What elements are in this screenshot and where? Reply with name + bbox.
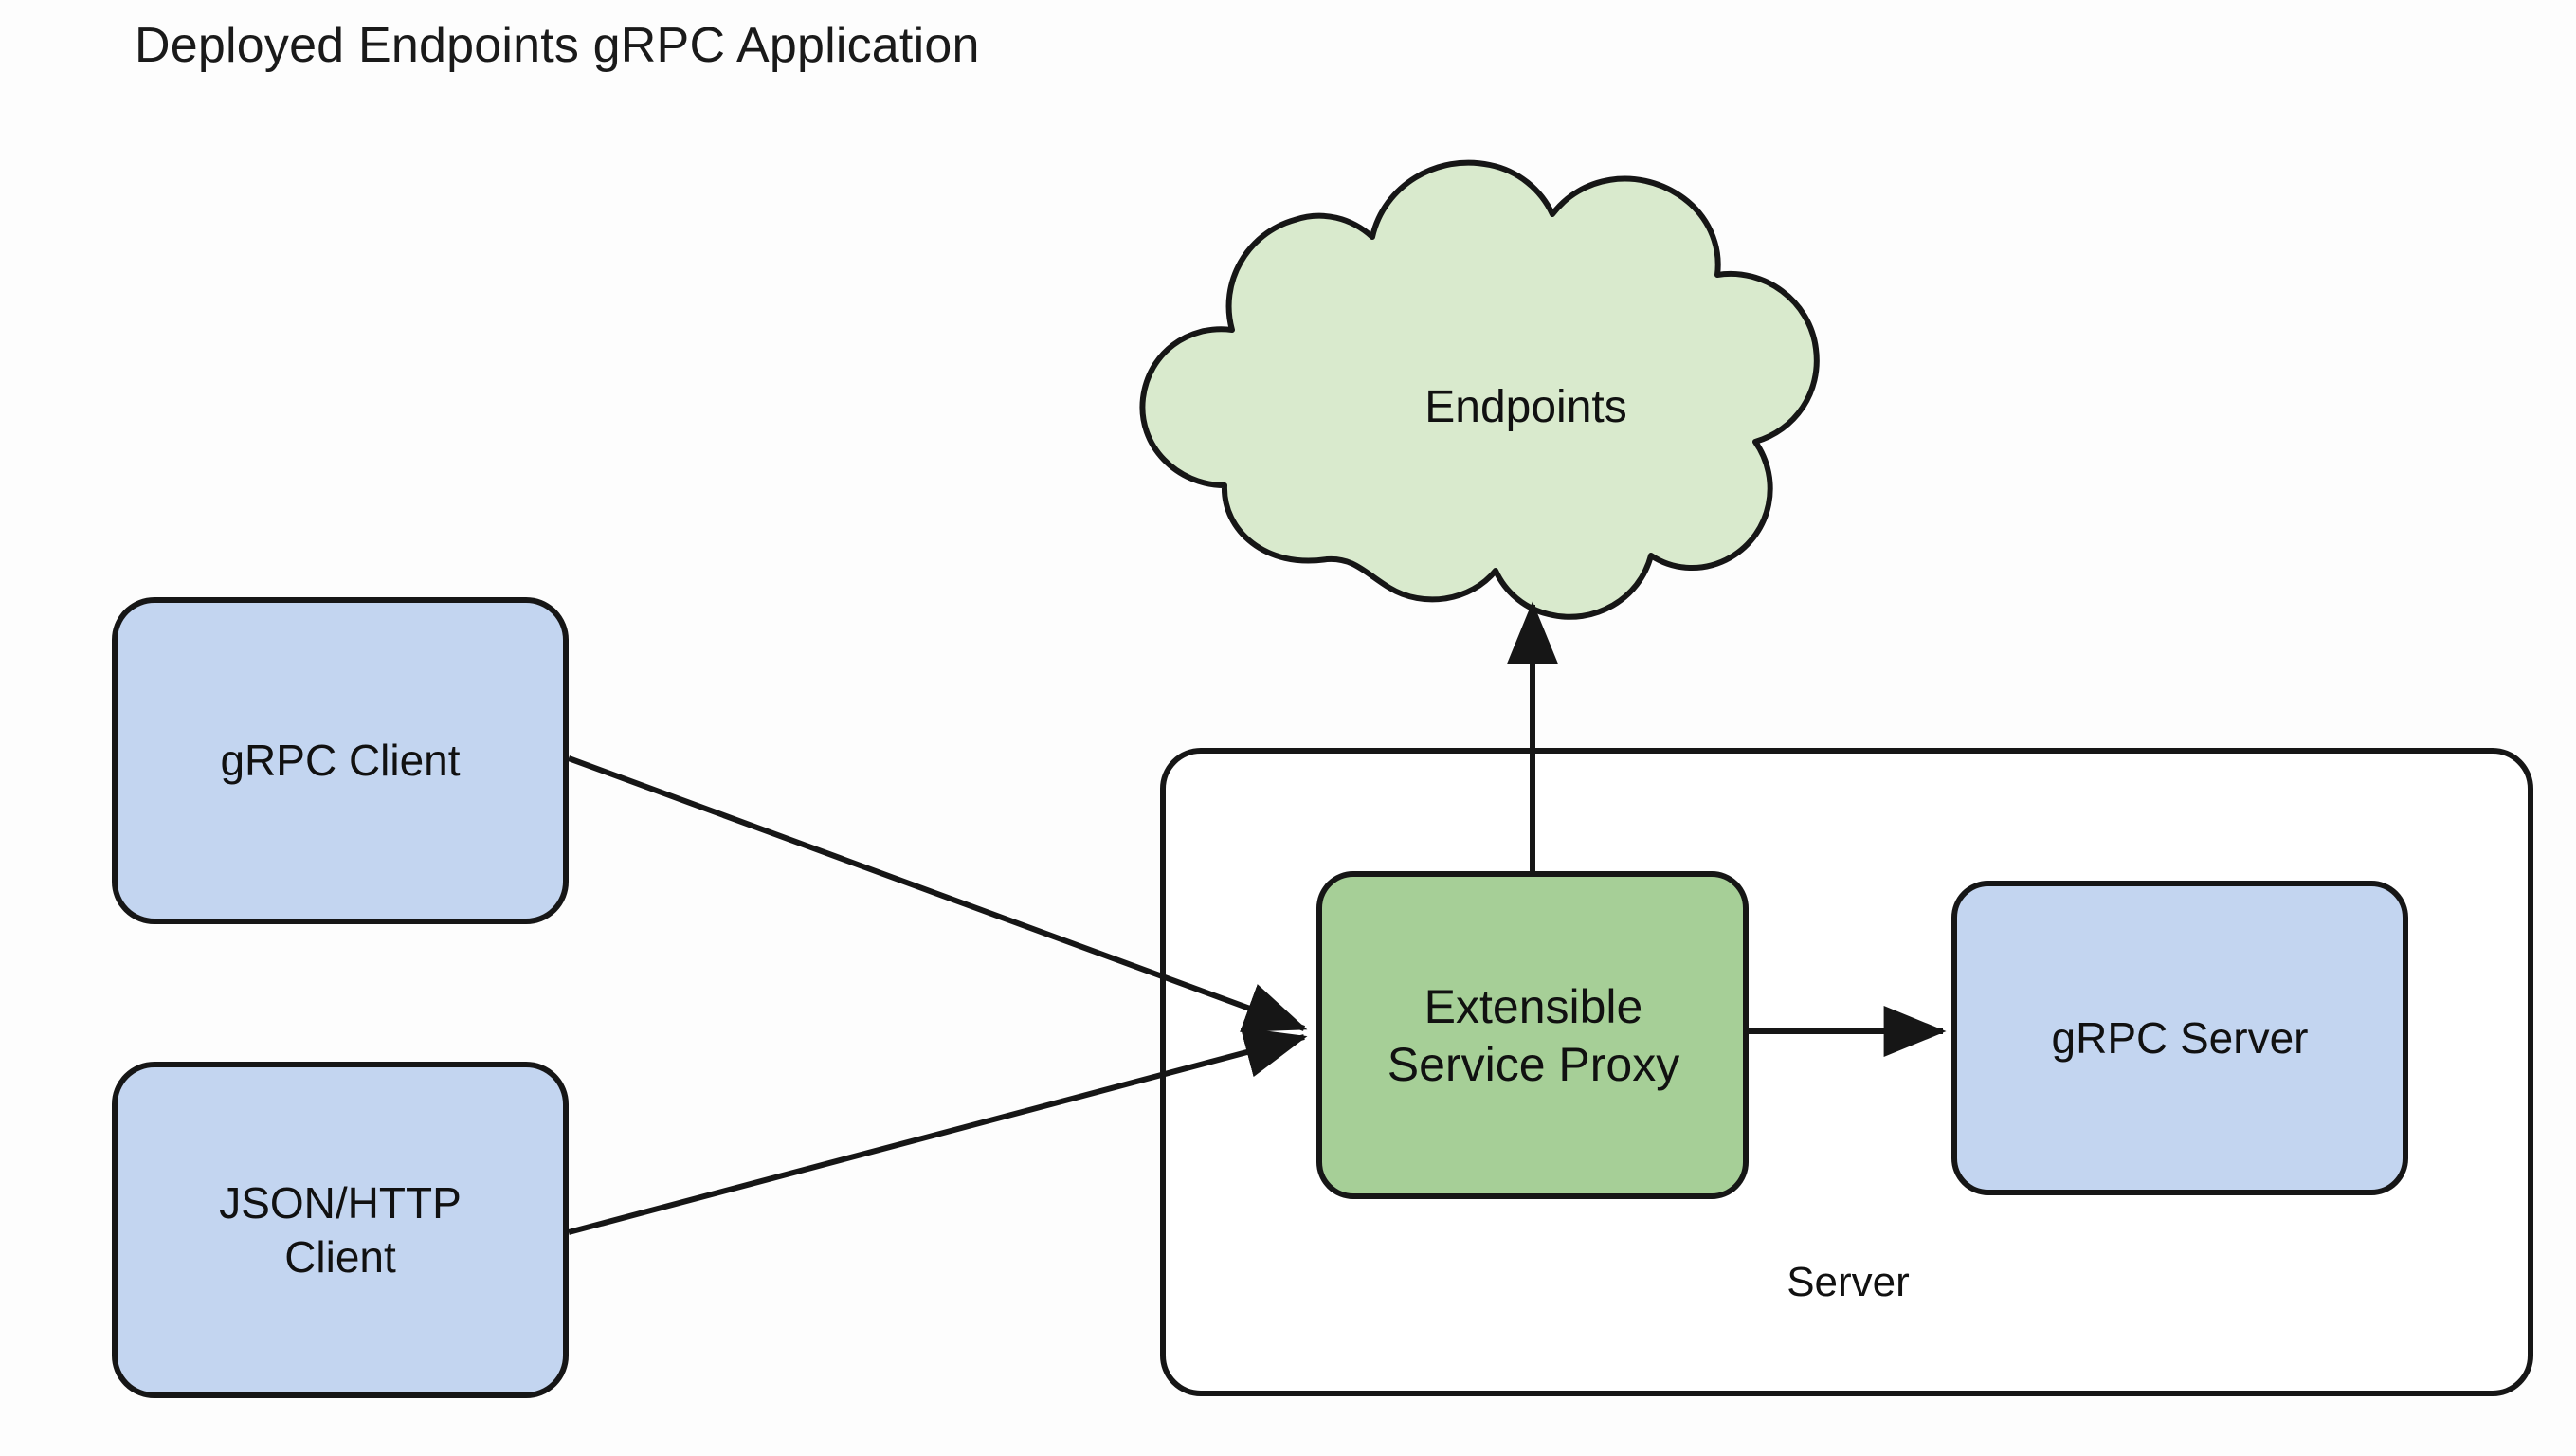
grpc-client-node[interactable] (115, 600, 566, 921)
json-http-client-node[interactable] (115, 1065, 566, 1395)
cloud-shape (1142, 163, 1816, 617)
extensible-service-proxy-node[interactable] (1319, 874, 1746, 1196)
endpoints-cloud-node[interactable] (1142, 163, 1816, 617)
grpc-server-node[interactable] (1954, 883, 2405, 1192)
diagram-svg (0, 0, 2576, 1456)
diagram-canvas: Deployed Endpoints gRPC Application gRPC… (0, 0, 2576, 1456)
